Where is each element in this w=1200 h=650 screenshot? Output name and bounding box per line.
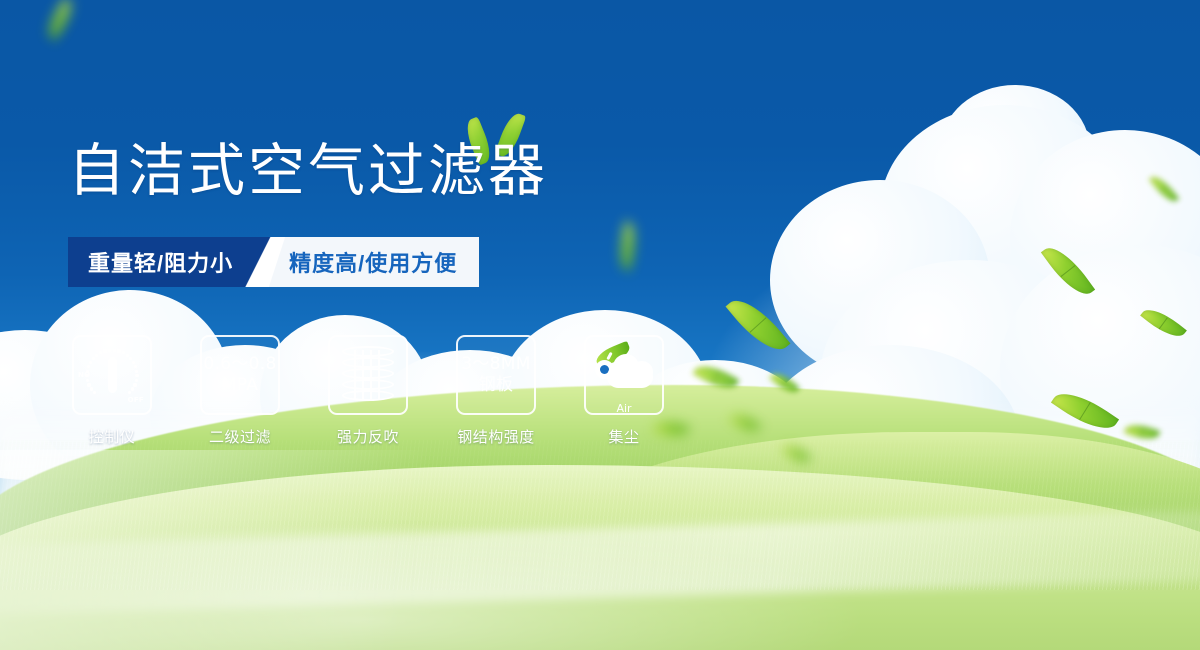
dial-tick-dot — [93, 391, 96, 394]
hero-banner: 自洁式空气过滤器 重量轻/阻力小 精度高/使用方便 NO OFF 控制仪 0.6… — [0, 0, 1200, 650]
steel-plate-text: 钢板 — [479, 375, 514, 396]
dial-tick-dot — [129, 357, 132, 360]
dial-tick-dot — [103, 349, 106, 352]
dial-tick-dot — [95, 354, 98, 357]
feature-icon-box: 0.6～0.8 MPA — [200, 335, 280, 415]
dial-tick-dot — [135, 379, 138, 382]
feature-item-steel-strength[interactable]: 3～8MM 钢板 钢结构强度 — [456, 335, 536, 447]
dial-tick-dot — [126, 354, 129, 357]
dial-tick-dot — [122, 351, 125, 354]
feature-item-filtration[interactable]: 0.6～0.8 MPA 二级过滤 — [200, 335, 280, 447]
dial-tick-dot — [87, 383, 90, 386]
dial-label-off: OFF — [128, 396, 144, 404]
dial-gauge-icon: NO OFF — [80, 345, 144, 405]
feature-label: 集尘 — [608, 426, 639, 447]
pressure-range-text: 0.6～0.8 — [203, 354, 276, 375]
feature-item-dust-collection[interactable]: Air 集尘 — [584, 335, 664, 447]
feature-list: NO OFF 控制仪 0.6～0.8 MPA 二级过滤 — [72, 335, 664, 447]
dial-tick-dot — [92, 357, 95, 360]
dial-tick-dot — [134, 365, 137, 368]
feature-icon-box: Air — [584, 335, 664, 415]
feature-label: 钢结构强度 — [457, 426, 535, 447]
dial-tick-dot — [113, 349, 116, 352]
dial-tick-dot — [87, 365, 90, 368]
dial-tick-dot — [128, 391, 131, 394]
dial-needle-icon — [108, 357, 117, 393]
dial-tick-dot — [117, 349, 120, 352]
dial-tick-dot — [86, 370, 89, 373]
dial-tick-dot — [86, 379, 89, 382]
tagline-bar: 重量轻/阻力小 精度高/使用方便 — [68, 237, 479, 287]
dial-tick-dot — [132, 361, 135, 364]
feature-icon-box: NO OFF — [72, 335, 152, 415]
dial-tick-dot — [135, 370, 138, 373]
feature-item-blowback[interactable]: 强力反吹 — [328, 335, 408, 447]
dial-tick-dot — [131, 387, 134, 390]
feature-label: 强力反吹 — [337, 426, 399, 447]
feature-icon-box — [328, 335, 408, 415]
feature-label: 二级过滤 — [209, 426, 271, 447]
steel-thickness-text: 3～8MM — [461, 354, 530, 375]
feature-item-controller[interactable]: NO OFF 控制仪 — [72, 335, 152, 447]
field-sunlight-sheen — [0, 450, 1200, 650]
tagline-left: 重量轻/阻力小 — [68, 237, 255, 287]
cloud-air-icon: Air — [593, 348, 655, 402]
dial-tick-dot — [133, 383, 136, 386]
dial-tick-dot — [108, 349, 111, 352]
dial-tick-dot — [135, 374, 138, 377]
dial-tick-dot — [99, 351, 102, 354]
feature-icon-box: 3～8MM 钢板 — [456, 335, 536, 415]
air-label: Air — [593, 402, 655, 415]
dial-tick-dot — [90, 387, 93, 390]
tagline-right: 精度高/使用方便 — [267, 237, 479, 287]
page-title: 自洁式空气过滤器 — [68, 143, 548, 200]
dial-tick-dot — [89, 361, 92, 364]
coil-filter-icon — [342, 346, 394, 404]
pressure-unit-text: MPA — [222, 375, 258, 396]
feature-label: 控制仪 — [89, 426, 136, 447]
